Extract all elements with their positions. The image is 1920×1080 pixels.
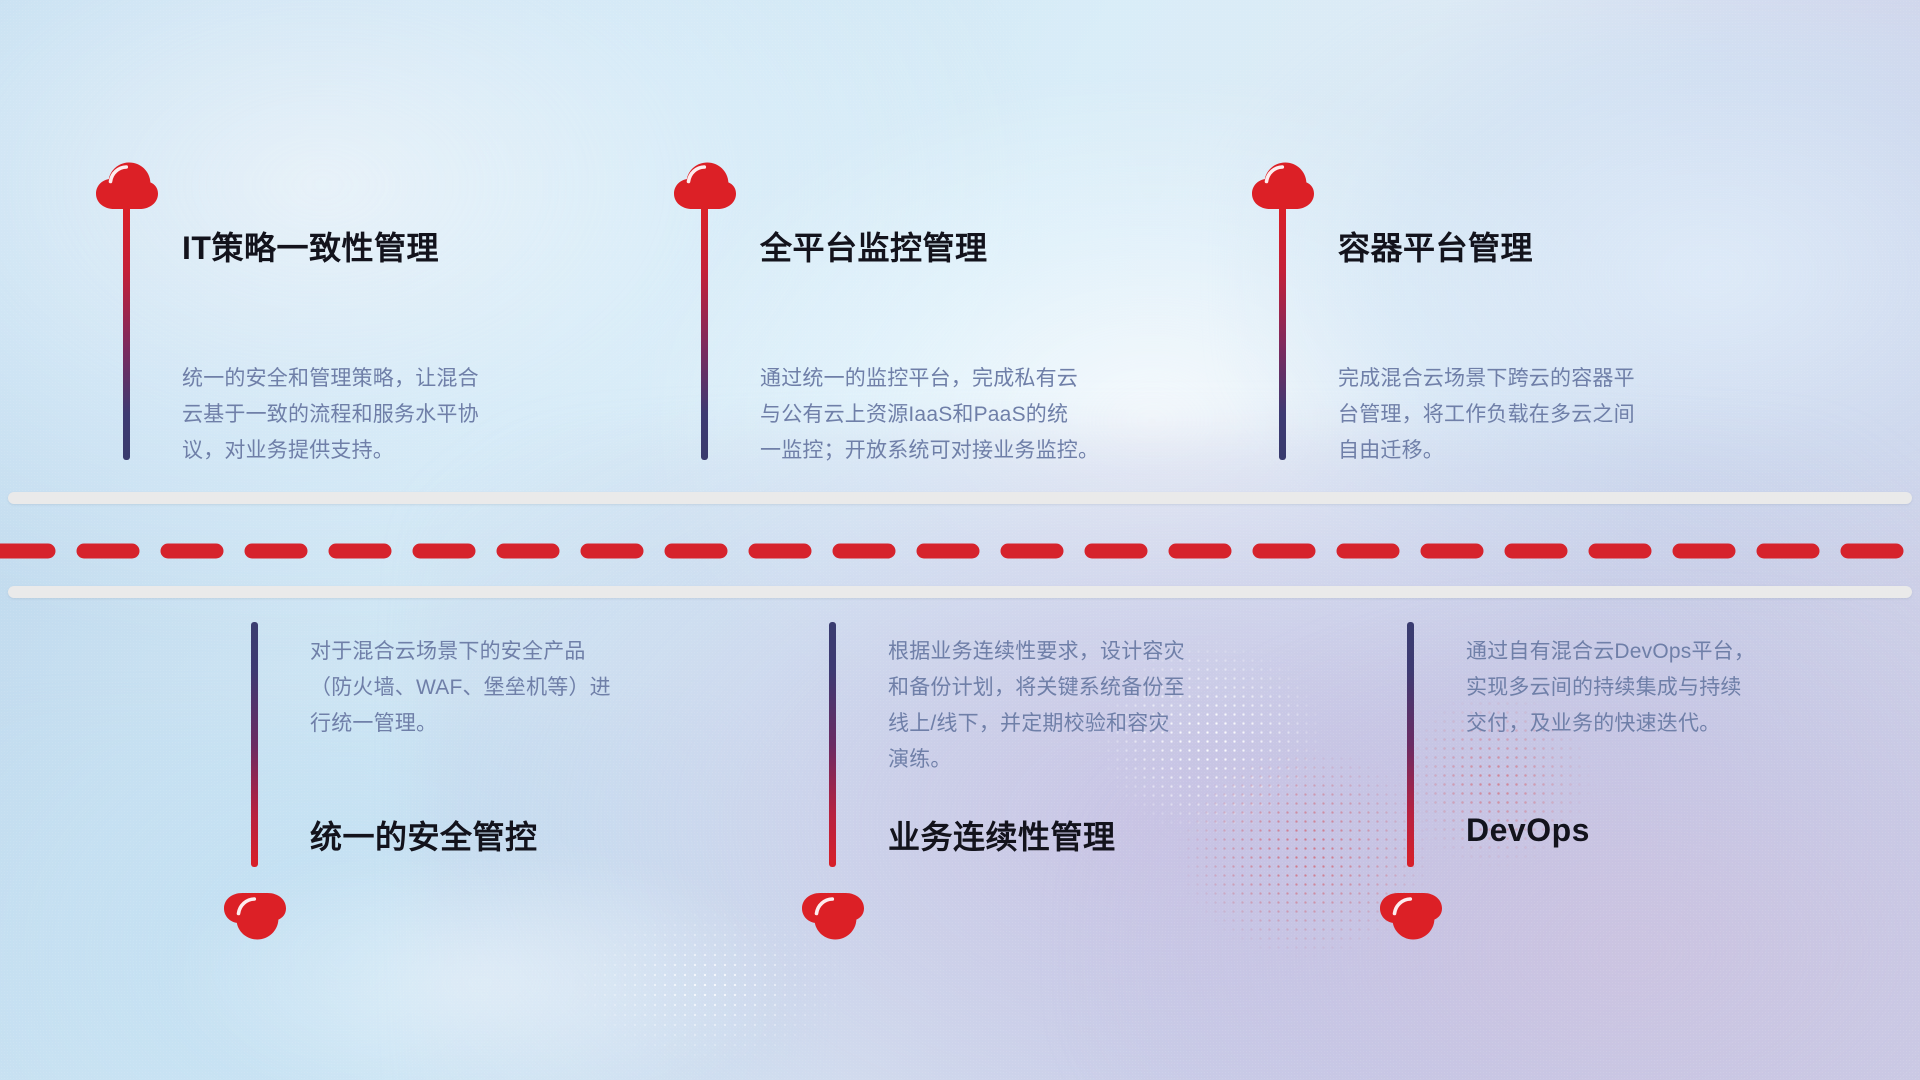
cloud-pin-icon bbox=[800, 892, 866, 942]
description-line: 台管理，将工作负载在多云之间 bbox=[1338, 397, 1635, 433]
feature-description: 通过自有混合云DevOps平台，实现多云间的持续集成与持续交付，及业务的快速迭代… bbox=[1466, 634, 1755, 742]
feature-description: 通过统一的监控平台，完成私有云与公有云上资源IaaS和PaaS的统一监控；开放系… bbox=[760, 361, 1099, 469]
description-line: 云基于一致的流程和服务水平协 bbox=[182, 397, 479, 433]
background-texture bbox=[0, 0, 1920, 1080]
description-line: 通过统一的监控平台，完成私有云 bbox=[760, 361, 1099, 397]
cloud-pin-icon bbox=[94, 160, 160, 210]
description-line: 自由迁移。 bbox=[1338, 433, 1635, 469]
connector-line bbox=[123, 205, 130, 460]
description-line: 实现多云间的持续集成与持续 bbox=[1466, 670, 1755, 706]
description-line: （防火墙、WAF、堡垒机等）进 bbox=[310, 670, 611, 706]
description-line: 和备份计划，将关键系统备份至 bbox=[888, 670, 1185, 706]
description-line: 根据业务连续性要求，设计容灾 bbox=[888, 634, 1185, 670]
feature-title: 全平台监控管理 bbox=[760, 223, 988, 269]
description-line: 完成混合云场景下跨云的容器平 bbox=[1338, 361, 1635, 397]
connector-line bbox=[251, 622, 258, 867]
description-line: 一监控；开放系统可对接业务监控。 bbox=[760, 433, 1099, 469]
feature-title: DevOps bbox=[1466, 812, 1590, 849]
description-line: 交付，及业务的快速迭代。 bbox=[1466, 706, 1755, 742]
description-line: 与公有云上资源IaaS和PaaS的统 bbox=[760, 397, 1099, 433]
feature-description: 对于混合云场景下的安全产品（防火墙、WAF、堡垒机等）进行统一管理。 bbox=[310, 634, 611, 742]
feature-description: 根据业务连续性要求，设计容灾和备份计划，将关键系统备份至线上/线下，并定期校验和… bbox=[888, 634, 1185, 778]
feature-title: 业务连续性管理 bbox=[888, 812, 1116, 858]
cloud-pin-icon bbox=[1250, 160, 1316, 210]
description-line: 线上/线下，并定期校验和容灾 bbox=[888, 706, 1185, 742]
description-line: 行统一管理。 bbox=[310, 706, 611, 742]
connector-line bbox=[1407, 622, 1414, 867]
connector-line bbox=[829, 622, 836, 867]
feature-title: 统一的安全管控 bbox=[310, 812, 538, 858]
cloud-pin-icon bbox=[672, 160, 738, 210]
feature-description: 统一的安全和管理策略，让混合云基于一致的流程和服务水平协议，对业务提供支持。 bbox=[182, 361, 479, 469]
feature-title: IT策略一致性管理 bbox=[182, 223, 439, 269]
red-dashed-divider bbox=[0, 542, 1920, 560]
cloud-pin-icon bbox=[1378, 892, 1444, 942]
connector-line bbox=[701, 205, 708, 460]
description-line: 对于混合云场景下的安全产品 bbox=[310, 634, 611, 670]
connector-line bbox=[1279, 205, 1286, 460]
description-line: 通过自有混合云DevOps平台， bbox=[1466, 634, 1755, 670]
feature-description: 完成混合云场景下跨云的容器平台管理，将工作负载在多云之间自由迁移。 bbox=[1338, 361, 1635, 469]
description-line: 议，对业务提供支持。 bbox=[182, 433, 479, 469]
description-line: 统一的安全和管理策略，让混合 bbox=[182, 361, 479, 397]
divider-rule-bottom bbox=[8, 586, 1912, 598]
description-line: 演练。 bbox=[888, 742, 1185, 778]
infographic-canvas: IT策略一致性管理 统一的安全和管理策略，让混合云基于一致的流程和服务水平协议，… bbox=[0, 0, 1920, 1080]
divider-rule-top bbox=[8, 492, 1912, 504]
cloud-pin-icon bbox=[222, 892, 288, 942]
feature-title: 容器平台管理 bbox=[1338, 223, 1533, 269]
